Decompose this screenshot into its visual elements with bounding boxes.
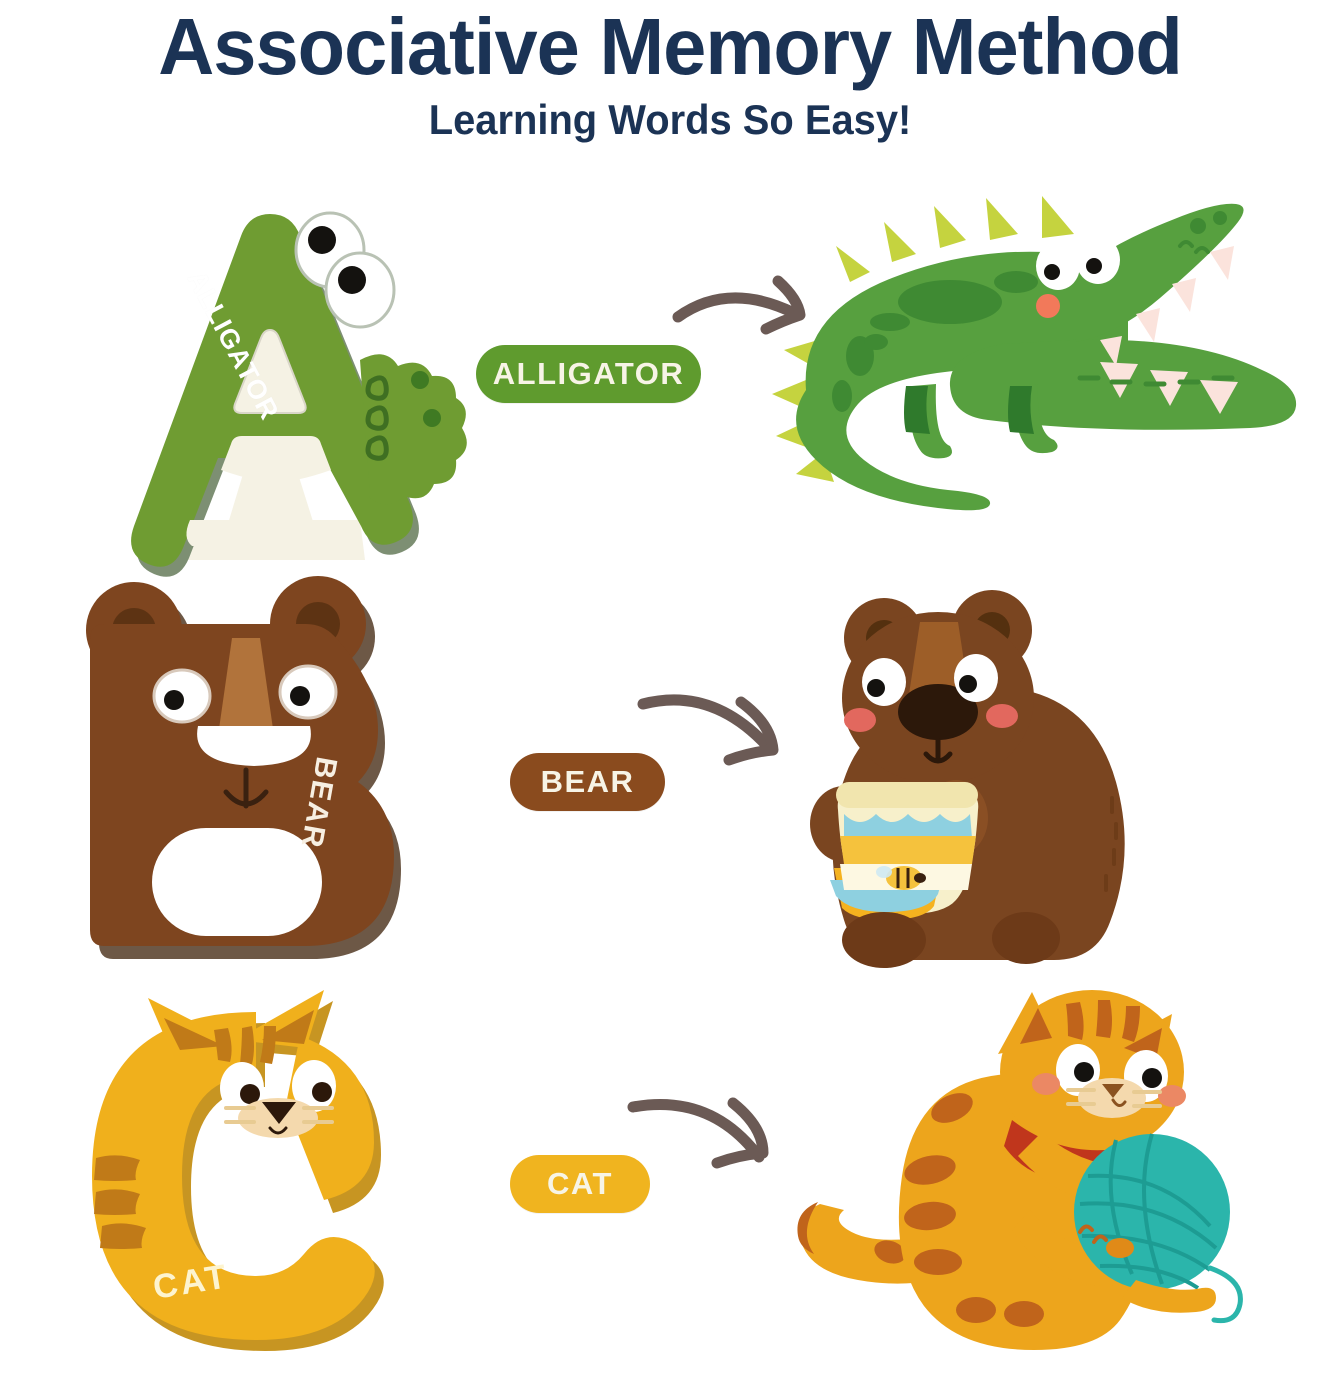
animal-bear xyxy=(780,578,1340,978)
header: Associative Memory Method Learning Words… xyxy=(0,0,1340,144)
letter-tile-a[interactable]: ALLIGATOR xyxy=(60,190,480,590)
cat-illustration xyxy=(780,980,1250,1360)
animal-cat xyxy=(780,980,1340,1380)
animal-alligator xyxy=(780,190,1340,590)
page-subtitle: Learning Words So Easy! xyxy=(34,96,1307,144)
row-cat: CAT CAT xyxy=(0,980,1340,1380)
letter-c-graphic xyxy=(60,980,480,1380)
row-alligator: ALLIGATOR ALLIGATOR xyxy=(0,190,1340,590)
page-title: Associative Memory Method xyxy=(20,6,1320,88)
word-label-alligator[interactable]: ALLIGATOR xyxy=(476,345,701,403)
honey-pot xyxy=(830,782,978,920)
alligator-snout-shape xyxy=(360,354,467,504)
alligator-illustration xyxy=(780,190,1320,520)
poster: Associative Memory Method Learning Words… xyxy=(0,0,1340,1364)
letter-b-graphic xyxy=(60,578,480,978)
letter-tile-b[interactable]: BEAR xyxy=(60,578,480,978)
letter-tile-c[interactable]: CAT xyxy=(60,980,480,1380)
row-bear: BEAR BEAR xyxy=(0,578,1340,978)
bear-illustration xyxy=(780,578,1200,978)
